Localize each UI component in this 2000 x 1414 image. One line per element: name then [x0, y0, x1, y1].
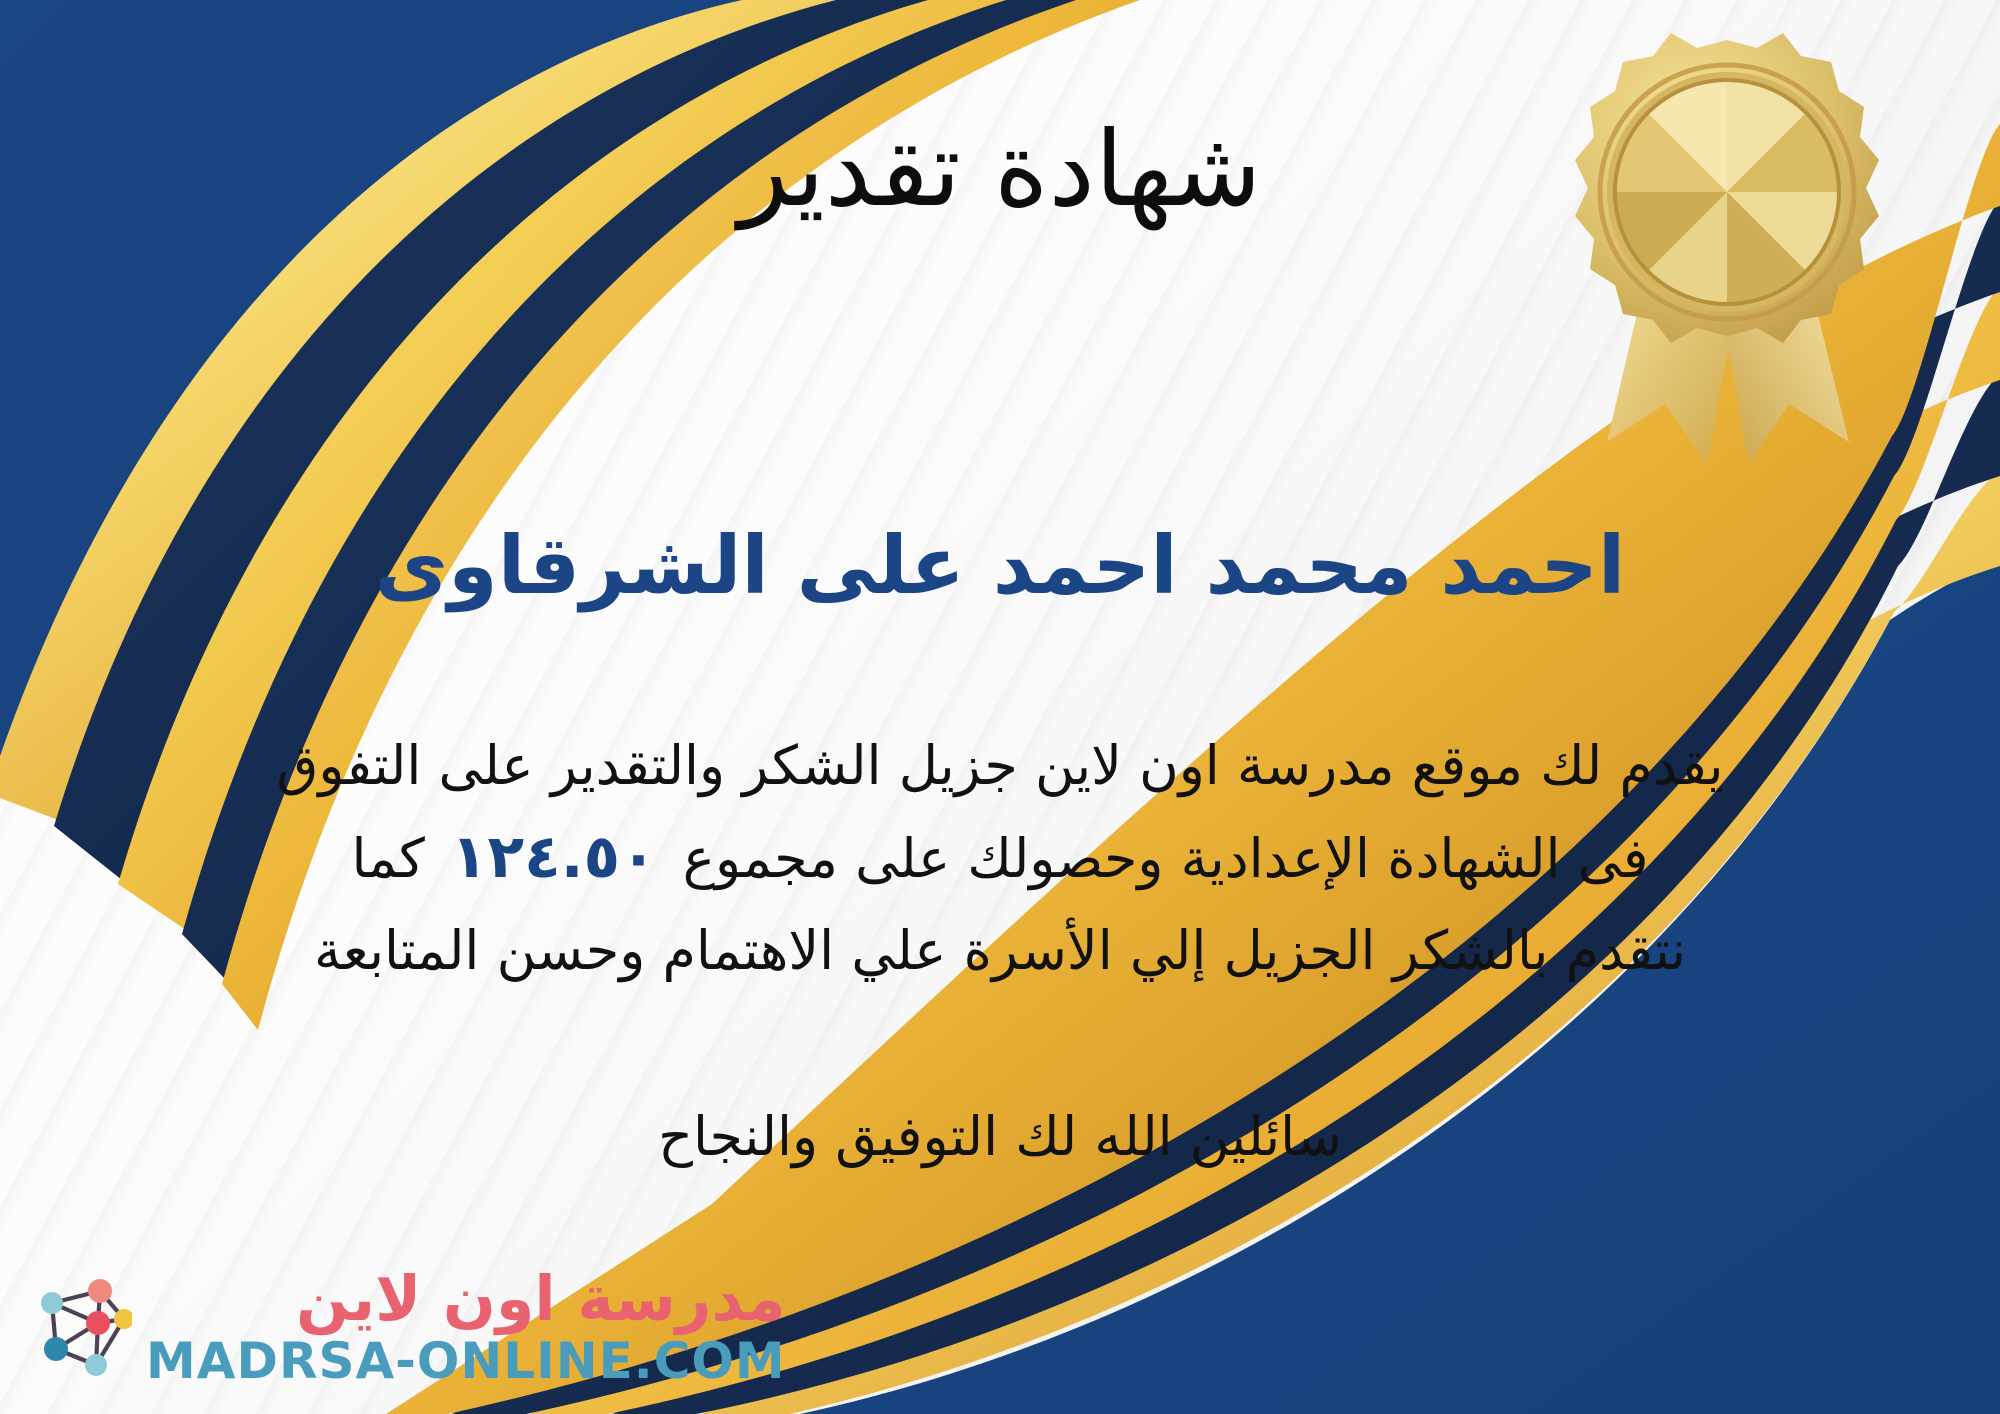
logo-arabic-name: مدرسة اون لاين — [296, 1268, 786, 1330]
certificate-body: يقدم لك موقع مدرسة اون لاين جزيل الشكر و… — [60, 722, 1940, 994]
certificate-canvas: شهادة تقدير احمد محمد احمد على الشرقاوى … — [0, 0, 2000, 1414]
body-line-2-suffix: كما — [351, 827, 424, 890]
logo-website-url: MADRSA-ONLINE.COM — [146, 1336, 786, 1386]
recipient-name: احمد محمد احمد على الشرقاوى — [0, 520, 2000, 612]
network-nodes-icon — [28, 1275, 132, 1379]
logo-text-block: مدرسة اون لاين MADRSA-ONLINE.COM — [146, 1268, 786, 1386]
page-title: شهادة تقدير — [0, 112, 2000, 226]
closing-blessing-line: سائلين الله لك التوفيق والنجاح — [0, 1096, 2000, 1177]
body-line-2: فى الشهادة الإعدادية وحصولك على مجموع١٢٤… — [60, 809, 1940, 906]
site-logo[interactable]: مدرسة اون لاين MADRSA-ONLINE.COM — [28, 1268, 786, 1386]
body-line-3: نتقدم بالشكر الجزيل إلي الأسرة علي الاهت… — [60, 907, 1940, 994]
body-line-1: يقدم لك موقع مدرسة اون لاين جزيل الشكر و… — [60, 722, 1940, 809]
body-line-2-prefix: فى الشهادة الإعدادية وحصولك على مجموع — [683, 827, 1649, 890]
grade-total-value: ١٢٤.٥٠ — [425, 822, 683, 892]
